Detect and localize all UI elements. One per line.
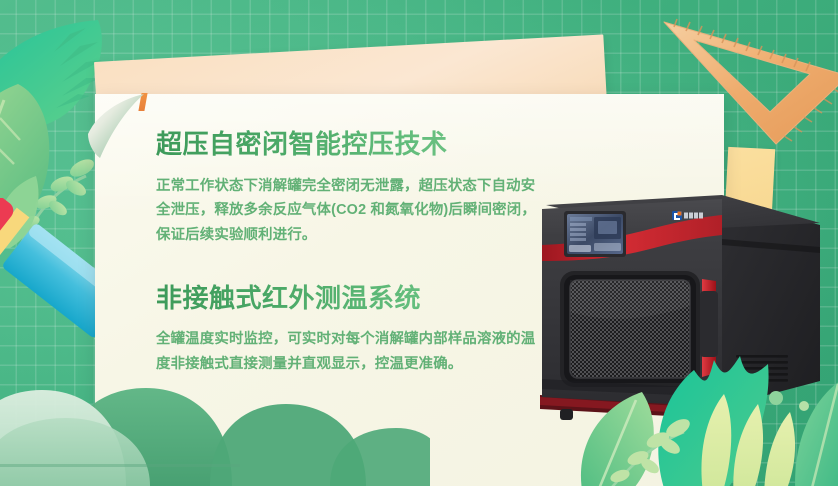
- section-heading-pressure: 超压自密闭智能控压技术: [156, 128, 546, 161]
- poster-canvas: 超压自密闭智能控压技术 正常工作状态下消解罐完全密闭无泄露，超压状态下自动安全泄…: [0, 0, 838, 486]
- section-body-pressure: 正常工作状态下消解罐完全密闭无泄露，超压状态下自动安全泄压，释放多余反应气体(C…: [156, 174, 546, 248]
- section-body-infrared: 全罐温度实时监控，可实时对每个消解罐内部样品溶液的温度非接触式直接测量并直观显示…: [156, 327, 546, 377]
- section-heading-infrared: 非接触式红外测温系统: [156, 282, 546, 315]
- text-content: 超压自密闭智能控压技术 正常工作状态下消解罐完全密闭无泄露，超压状态下自动安全泄…: [156, 128, 546, 377]
- microwave-digestion-instrument: [524, 183, 824, 431]
